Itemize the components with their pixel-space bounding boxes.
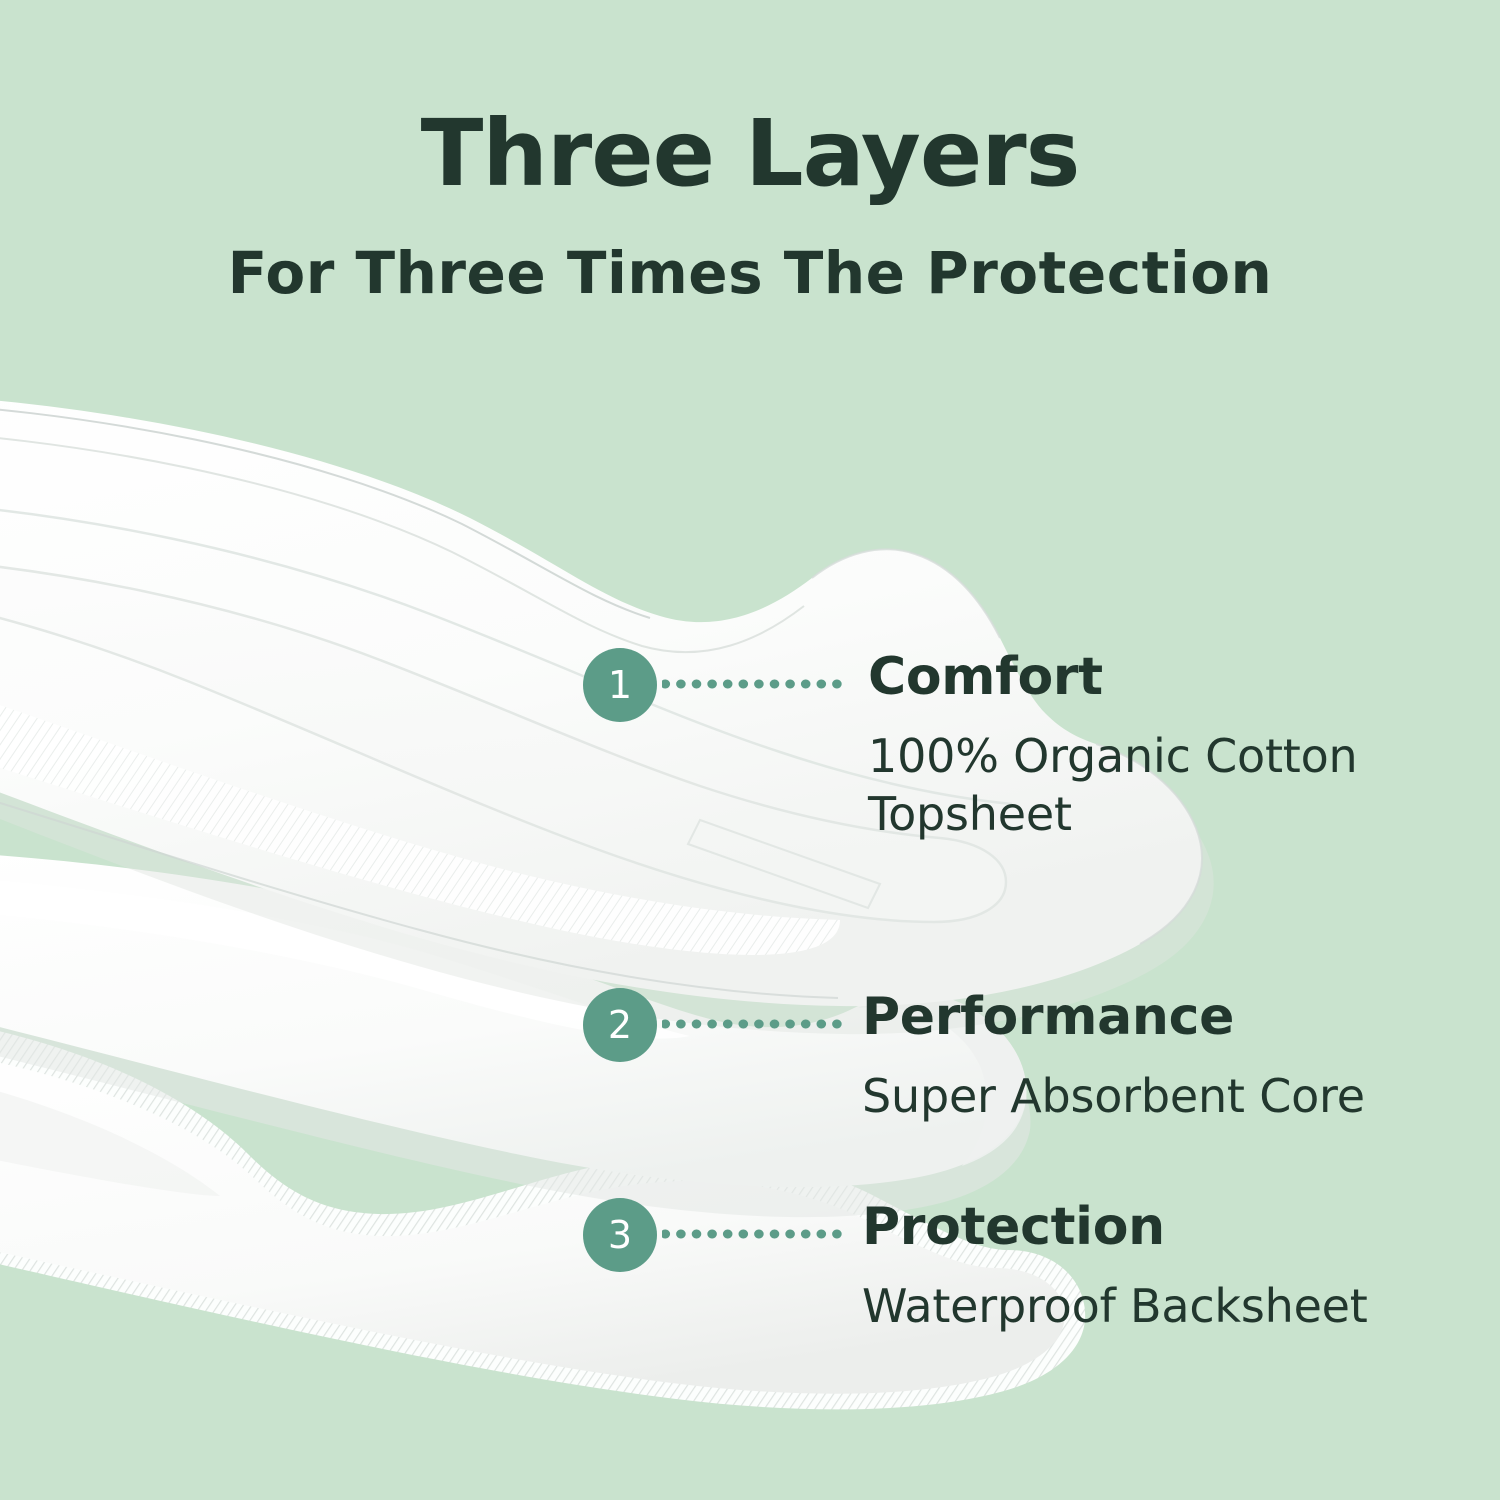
callout-badge-1[interactable]: 1 bbox=[583, 648, 657, 722]
leader-line-1 bbox=[662, 678, 852, 688]
callout-title-2: Performance bbox=[862, 990, 1482, 1045]
callout-title-1: Comfort bbox=[868, 650, 1488, 705]
page-title: Three Layers bbox=[0, 108, 1500, 200]
callout-text-2: Performance Super Absorbent Core bbox=[862, 990, 1482, 1125]
leader-line-3 bbox=[662, 1228, 852, 1238]
page-subtitle: For Three Times The Protection bbox=[0, 244, 1500, 302]
callout-title-3: Protection bbox=[862, 1200, 1482, 1255]
callout-badge-2[interactable]: 2 bbox=[583, 988, 657, 1062]
callout-desc-3: Waterproof Backsheet bbox=[862, 1277, 1482, 1336]
callout-desc-2: Super Absorbent Core bbox=[862, 1067, 1482, 1126]
heading-block: Three Layers For Three Times The Protect… bbox=[0, 108, 1500, 302]
callout-desc-1: 100% Organic Cotton Topsheet bbox=[868, 727, 1488, 845]
product-infographic: Three Layers For Three Times The Protect… bbox=[0, 0, 1500, 1500]
callout-text-3: Protection Waterproof Backsheet bbox=[862, 1200, 1482, 1335]
callout-badge-3[interactable]: 3 bbox=[583, 1198, 657, 1272]
callout-text-1: Comfort 100% Organic Cotton Topsheet bbox=[868, 650, 1488, 844]
leader-line-2 bbox=[662, 1018, 852, 1028]
